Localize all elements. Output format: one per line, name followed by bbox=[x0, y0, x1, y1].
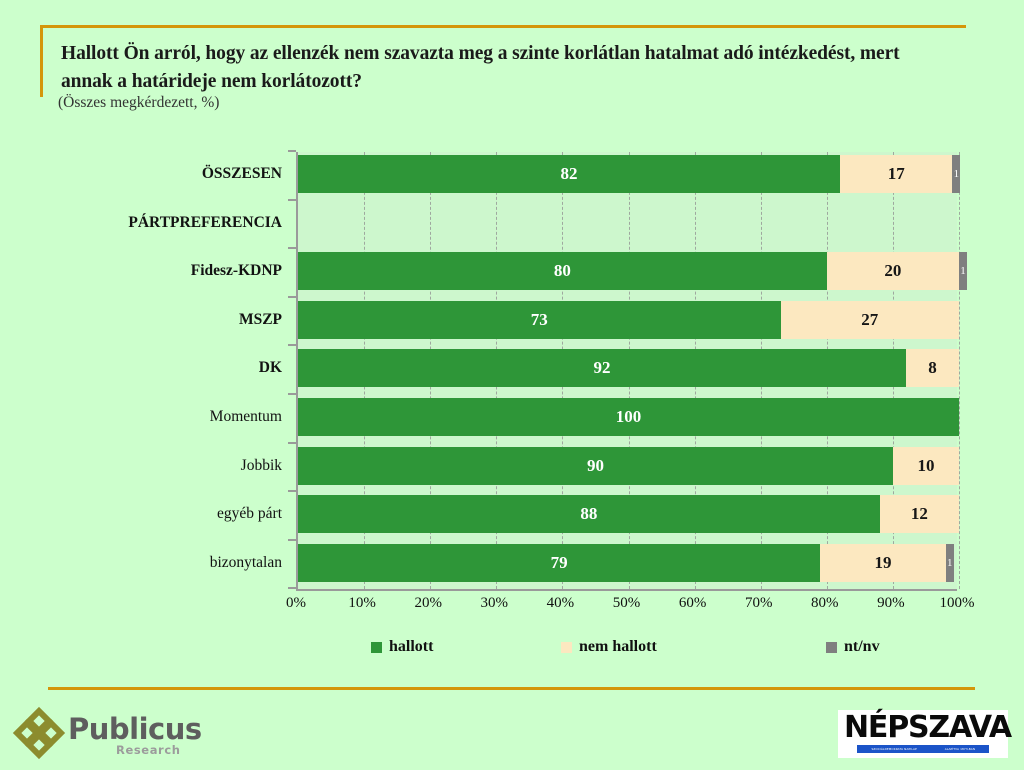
legend-label: nt/nv bbox=[844, 638, 880, 656]
x-axis-labels: 0%10%20%30%40%50%60%70%80%90%100% bbox=[296, 595, 957, 619]
legend-label: nem hallott bbox=[579, 638, 657, 656]
bar-segment-hallott[interactable]: 92 bbox=[298, 349, 906, 387]
bar-row[interactable]: 7327 bbox=[298, 301, 957, 339]
bar-segment-nem-hallott[interactable]: 20 bbox=[827, 252, 959, 290]
publicus-tagline: Research bbox=[116, 743, 181, 757]
bar-segment-nem-hallott[interactable]: 17 bbox=[840, 155, 952, 193]
x-axis-tick-label: 10% bbox=[348, 595, 376, 612]
x-axis-tick-label: 40% bbox=[547, 595, 575, 612]
page-subtitle: (Összes megkérdezett, %) bbox=[58, 94, 219, 112]
y-axis-tick bbox=[288, 344, 296, 346]
legend-square-cream bbox=[561, 642, 572, 653]
x-axis-tick-label: 80% bbox=[811, 595, 839, 612]
bar-segment-hallott[interactable]: 73 bbox=[298, 301, 781, 339]
legend-item[interactable]: nt/nv bbox=[826, 638, 880, 656]
category-label: DK bbox=[259, 358, 282, 378]
category-label: egyéb párt bbox=[217, 504, 282, 524]
diamond-cluster-icon bbox=[18, 714, 64, 760]
x-axis-tick-label: 20% bbox=[414, 595, 442, 612]
y-axis-tick bbox=[288, 587, 296, 589]
bar-segment-nem-hallott[interactable]: 19 bbox=[820, 544, 946, 582]
x-axis-tick-label: 100% bbox=[940, 595, 975, 612]
bar-segment-nem-hallott[interactable]: 27 bbox=[781, 301, 959, 339]
category-label: bizonytalan bbox=[210, 553, 282, 573]
bar-row[interactable]: 80201 bbox=[298, 252, 957, 290]
legend-item[interactable]: nem hallott bbox=[561, 638, 657, 656]
publicus-wordmark: Publicus bbox=[68, 712, 202, 746]
bar-row[interactable]: 9010 bbox=[298, 447, 957, 485]
chart-legend: hallottnem hallottnt/nv bbox=[296, 638, 957, 664]
bar-segment-nem-hallott[interactable]: 8 bbox=[906, 349, 959, 387]
y-axis-tick bbox=[288, 442, 296, 444]
bar-row[interactable]: 928 bbox=[298, 349, 957, 387]
nepszava-blue-strip: SZOCIÁLDEMOKRATA NAPILAP ALAPÍTVA 1873-B… bbox=[857, 745, 989, 753]
nepszava-micro-right: ALAPÍTVA 1873-BAN bbox=[945, 747, 975, 751]
x-axis-tick-label: 30% bbox=[481, 595, 509, 612]
legend-label: hallott bbox=[389, 638, 433, 656]
y-axis-tick bbox=[288, 150, 296, 152]
y-axis-tick bbox=[288, 490, 296, 492]
category-label: Jobbik bbox=[241, 456, 282, 476]
footer-divider bbox=[48, 687, 975, 690]
category-axis: ÖSSZESENPÁRTPREFERENCIAFidesz-KDNPMSZPDK… bbox=[60, 152, 290, 592]
category-label: PÁRTPREFERENCIA bbox=[128, 213, 282, 233]
bar-segment-nem-hallott[interactable]: 10 bbox=[893, 447, 959, 485]
x-axis-tick-label: 60% bbox=[679, 595, 707, 612]
bar-segment-hallott[interactable]: 79 bbox=[298, 544, 820, 582]
category-label: Momentum bbox=[210, 407, 282, 427]
x-axis-tick-label: 0% bbox=[286, 595, 306, 612]
bar-segment-hallott[interactable]: 80 bbox=[298, 252, 827, 290]
y-axis-tick bbox=[288, 539, 296, 541]
bar-segment-ntnv[interactable]: 1 bbox=[946, 544, 954, 582]
bar-segment-hallott[interactable]: 82 bbox=[298, 155, 840, 193]
y-axis-tick bbox=[288, 393, 296, 395]
legend-square-grey bbox=[826, 642, 837, 653]
y-axis-tick bbox=[288, 247, 296, 249]
y-axis-tick bbox=[288, 296, 296, 298]
bar-row[interactable]: 79191 bbox=[298, 544, 957, 582]
y-axis-tick bbox=[288, 199, 296, 201]
bar-segment-ntnv[interactable]: 1 bbox=[952, 155, 960, 193]
bar-segment-hallott[interactable]: 100 bbox=[298, 398, 959, 436]
nepszava-wordmark: NÉPSZAVA bbox=[844, 712, 1002, 744]
x-axis-tick-label: 70% bbox=[745, 595, 773, 612]
plot-area: 821718020173279281009010881279191 bbox=[296, 152, 957, 589]
bar-segment-hallott[interactable]: 90 bbox=[298, 447, 893, 485]
title-bracket: Hallott Ön arról, hogy az ellenzék nem s… bbox=[40, 25, 966, 97]
x-axis-line bbox=[296, 589, 957, 591]
category-label: Fidesz-KDNP bbox=[191, 261, 282, 281]
nepszava-logo: NÉPSZAVA SZOCIÁLDEMOKRATA NAPILAP ALAPÍT… bbox=[838, 710, 1008, 758]
nepszava-micro-left: SZOCIÁLDEMOKRATA NAPILAP bbox=[871, 747, 916, 751]
legend-item[interactable]: hallott bbox=[371, 638, 433, 656]
page-title: Hallott Ön arról, hogy az ellenzék nem s… bbox=[61, 40, 921, 95]
bar-row[interactable]: 100 bbox=[298, 398, 957, 436]
legend-square-green bbox=[371, 642, 382, 653]
publicus-research-logo: Publicus Research bbox=[18, 712, 218, 760]
bar-segment-hallott[interactable]: 88 bbox=[298, 495, 880, 533]
bar-row[interactable]: 82171 bbox=[298, 155, 957, 193]
x-axis-tick-label: 50% bbox=[613, 595, 641, 612]
bar-row[interactable]: 8812 bbox=[298, 495, 957, 533]
stacked-bar-chart: ÖSSZESENPÁRTPREFERENCIAFidesz-KDNPMSZPDK… bbox=[0, 140, 1024, 640]
category-label: ÖSSZESEN bbox=[202, 164, 282, 184]
bar-segment-nem-hallott[interactable]: 12 bbox=[880, 495, 959, 533]
category-label: MSZP bbox=[239, 310, 282, 330]
bar-segment-ntnv[interactable]: 1 bbox=[959, 252, 967, 290]
gridline bbox=[959, 152, 960, 589]
x-axis-tick-label: 90% bbox=[877, 595, 905, 612]
